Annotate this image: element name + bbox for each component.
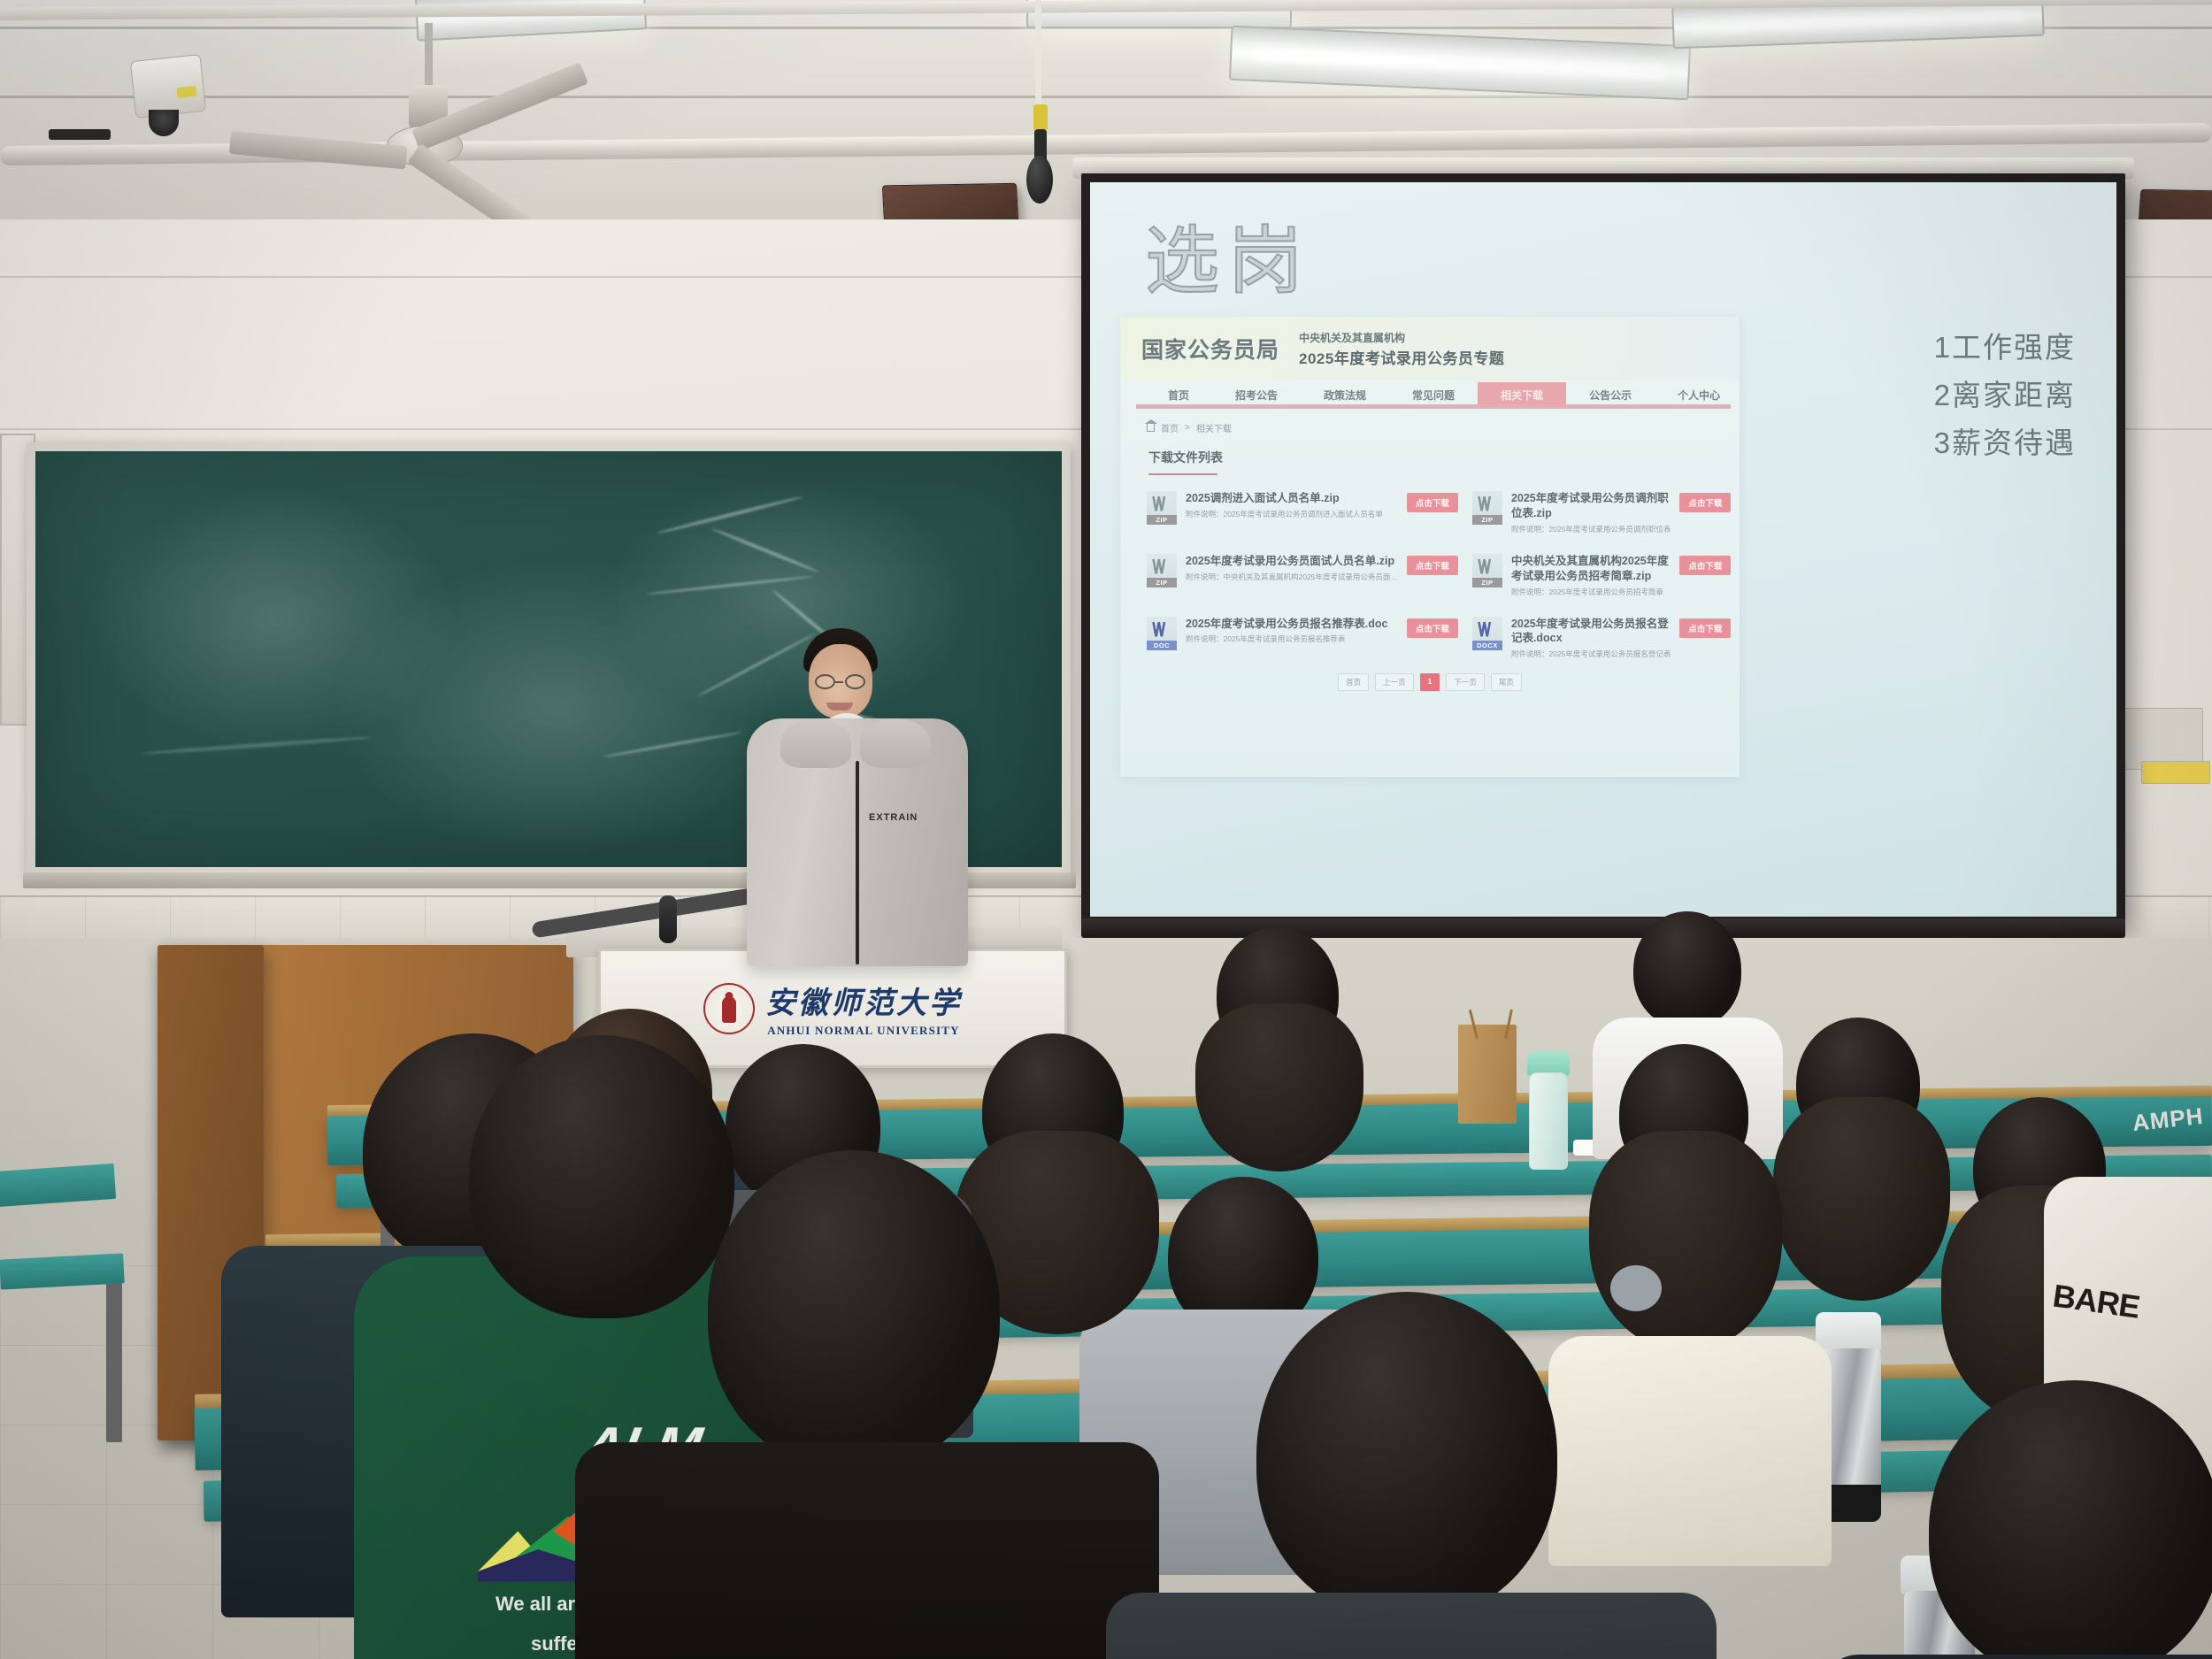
bench-leg: [106, 1283, 122, 1442]
file-type-tag: ZIP: [1147, 515, 1177, 525]
projector-screen: 选岗 国家公务员局 中央机关及其直属机构 2025年度考试录用公务员专题 首页 …: [1081, 173, 2125, 926]
download-button[interactable]: 点击下载: [1407, 618, 1458, 638]
zip-file-icon: \/\/ ZIP: [1472, 554, 1502, 588]
head: [708, 1150, 1000, 1469]
file-type-tag: ZIP: [1472, 515, 1502, 525]
ceiling-seam: [0, 96, 2212, 98]
file-type-tag: DOC: [1147, 641, 1177, 650]
file-description: 附件说明：2025年度考试录用公务员报名登记表: [1511, 649, 1671, 659]
fan-rod: [425, 23, 433, 87]
presenter-hood: [860, 718, 931, 768]
ceiling-cable: [49, 129, 111, 140]
file-description: 附件说明：2025年度考试录用公务员调剂进入面试人员名单: [1186, 510, 1398, 519]
file-name[interactable]: 2025年度考试录用公务员面试人员名单.zip: [1186, 554, 1398, 569]
slide-point-2: 2离家距离: [1934, 372, 2076, 414]
file-description: 附件说明：中央机关及其直属机构2025年度考试录用公务员面…: [1186, 572, 1398, 582]
file-list-item[interactable]: \/\/ DOC 2025年度考试录用公务员报名推荐表.doc 附件说明：202…: [1147, 611, 1458, 665]
projector-screen-weight-bar: [1081, 918, 2125, 938]
site-subtitle-block: 中央机关及其直属机构 2025年度考试录用公务员专题: [1299, 330, 1504, 368]
head: [469, 1035, 734, 1318]
head: [1256, 1292, 1557, 1619]
download-button[interactable]: 点击下载: [1679, 618, 1731, 638]
presenter-jacket-zipper: [856, 761, 859, 964]
shoulders: [1823, 1655, 2212, 1659]
slide-bullet-points: 1工作强度 2离家距离 3薪资待遇: [1934, 324, 2076, 462]
slide-title: 选岗: [1145, 202, 1311, 309]
classroom-scene: 选岗 国家公务员局 中央机关及其直属机构 2025年度考试录用公务员专题 首页 …: [0, 0, 2212, 1659]
head: [1633, 911, 1741, 1028]
site-navigation[interactable]: 首页 招考公告 政策法规 常见问题 相关下载 公告公示 个人中心: [1120, 380, 1740, 409]
breadcrumb-current: 相关下载: [1196, 421, 1232, 434]
breadcrumb: 首页 > 相关下载: [1120, 409, 1740, 434]
file-description: 附件说明：2025年度考试录用公务员调剂职位表: [1511, 525, 1671, 534]
file-name[interactable]: 中央机关及其直属机构2025年度考试录用公务员招考简章.zip: [1511, 554, 1671, 584]
microphone-icon: [1026, 156, 1053, 204]
pagination-first[interactable]: 首页: [1338, 673, 1369, 691]
mint-water-bottle: [1529, 1072, 1568, 1170]
glasses-bridge: [835, 681, 843, 683]
doc-file-icon: \/\/ DOC: [1147, 617, 1177, 650]
mic-hanging-rod: [1035, 0, 1041, 106]
long-hair-with-tie: [1589, 1131, 1782, 1352]
zip-file-icon: \/\/ ZIP: [1147, 491, 1177, 525]
mic-grip: [1033, 104, 1048, 131]
government-website-screenshot: 国家公务员局 中央机关及其直属机构 2025年度考试录用公务员专题 首页 招考公…: [1120, 317, 1740, 777]
projected-slide: 选岗 国家公务员局 中央机关及其直属机构 2025年度考试录用公务员专题 首页 …: [1090, 182, 2116, 917]
zip-file-icon: \/\/ ZIP: [1147, 554, 1177, 588]
pagination-page-1[interactable]: 1: [1420, 673, 1440, 691]
file-type-tag: ZIP: [1472, 578, 1502, 588]
slide-point-3: 3薪资待遇: [1934, 419, 2076, 462]
pagination-prev[interactable]: 上一页: [1375, 673, 1414, 691]
slide-point-1: 1工作强度: [1934, 324, 2076, 366]
paper-shopping-bag: [1458, 1025, 1517, 1124]
file-type-tag: DOCX: [1472, 641, 1502, 650]
docx-file-icon: \/\/ DOCX: [1472, 617, 1502, 650]
breadcrumb-separator: >: [1185, 423, 1190, 433]
long-hair: [1773, 1097, 1950, 1301]
site-logo: 国家公务员局: [1141, 333, 1279, 365]
download-button[interactable]: 点击下载: [1407, 493, 1458, 512]
file-list-item[interactable]: \/\/ ZIP 2025年度考试录用公务员面试人员名单.zip 附件说明：中央…: [1147, 549, 1458, 603]
wall-sign: [2141, 761, 2210, 784]
shoulders: [1106, 1593, 1717, 1659]
shoulders: [575, 1442, 1159, 1659]
long-hair: [1195, 1003, 1363, 1171]
file-list-item[interactable]: \/\/ DOCX 2025年度考试录用公务员报名登记表.docx 附件说明：2…: [1472, 611, 1731, 665]
download-button[interactable]: 点击下载: [1679, 493, 1731, 512]
file-name[interactable]: 2025年度考试录用公务员报名登记表.docx: [1511, 617, 1671, 647]
site-header: 国家公务员局 中央机关及其直属机构 2025年度考试录用公务员专题: [1120, 317, 1740, 380]
site-subtitle-line2: 2025年度考试录用公务员专题: [1299, 346, 1504, 368]
camera-label-tag: [176, 86, 196, 98]
file-list-item[interactable]: \/\/ ZIP 2025年度考试录用公务员调剂职位表.zip 附件说明：202…: [1472, 486, 1731, 540]
presenter: EXTRAIN: [734, 619, 1000, 991]
university-name-en: ANHUI NORMAL UNIVERSITY: [767, 1024, 960, 1038]
pagination[interactable]: 首页 上一页 1 下一页 尾页: [1120, 664, 1740, 691]
file-name[interactable]: 2025年度考试录用公务员调剂职位表.zip: [1511, 491, 1671, 521]
download-list-heading: 下载文件列表: [1148, 449, 1223, 471]
download-button[interactable]: 点击下载: [1679, 556, 1731, 575]
pagination-next[interactable]: 下一页: [1446, 673, 1485, 691]
shoulders: [1548, 1336, 1832, 1566]
zip-file-icon: \/\/ ZIP: [1472, 491, 1502, 525]
presenter-mouth: [826, 703, 853, 710]
glasses-right-lens: [845, 674, 865, 689]
file-type-tag: ZIP: [1147, 578, 1177, 588]
presenter-jacket-brand: EXTRAIN: [869, 812, 918, 823]
home-icon: [1147, 424, 1155, 432]
file-list-item[interactable]: \/\/ ZIP 2025调剂进入面试人员名单.zip 附件说明：2025年度考…: [1147, 486, 1458, 540]
site-subtitle-line1: 中央机关及其直属机构: [1299, 330, 1504, 345]
download-file-grid: \/\/ ZIP 2025调剂进入面试人员名单.zip 附件说明：2025年度考…: [1120, 475, 1740, 664]
glasses-left-lens: [815, 674, 835, 689]
file-name[interactable]: 2025调剂进入面试人员名单.zip: [1186, 491, 1398, 506]
download-list-heading-wrap: 下载文件列表: [1120, 434, 1740, 475]
file-description: 附件说明：2025年度考试录用公务员报名推荐表: [1186, 634, 1398, 644]
nav-underline: [1136, 404, 1731, 409]
thermos-cap: [1816, 1312, 1881, 1351]
file-description: 附件说明：2025年度考试录用公务员招考简章: [1511, 588, 1671, 597]
hair-tie: [1610, 1265, 1662, 1311]
download-button[interactable]: 点击下载: [1407, 556, 1458, 575]
file-list-item[interactable]: \/\/ ZIP 中央机关及其直属机构2025年度考试录用公务员招考简章.zip…: [1472, 549, 1731, 603]
file-name[interactable]: 2025年度考试录用公务员报名推荐表.doc: [1186, 617, 1398, 632]
pagination-last[interactable]: 尾页: [1491, 673, 1522, 691]
breadcrumb-home[interactable]: 首页: [1161, 421, 1179, 434]
podium-microphone-head: [659, 895, 677, 943]
presenter-hood: [780, 718, 851, 768]
